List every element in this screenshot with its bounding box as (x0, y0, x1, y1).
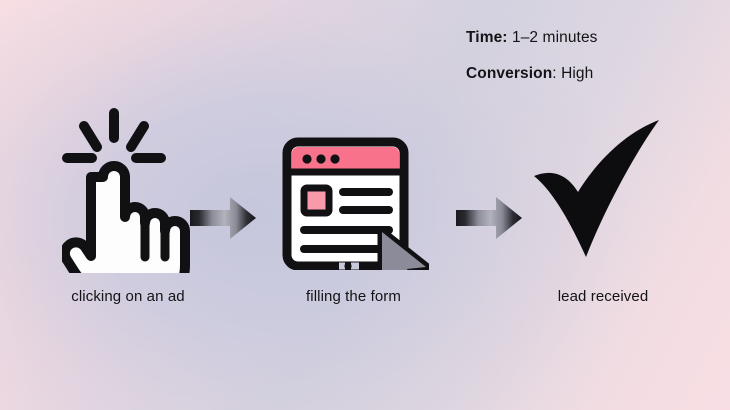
right-arrow-icon (190, 197, 256, 239)
step-clicking-art (18, 105, 238, 275)
step-form-caption: filling the form (256, 288, 451, 305)
step-lead-caption: lead received (508, 288, 698, 305)
checkmark-icon (528, 118, 678, 263)
time-line: Time: 1–2 minutes (466, 30, 716, 46)
infographic-canvas: Time: 1–2 minutes Conversion: High (0, 0, 730, 410)
browser-window-dots (302, 154, 339, 163)
form-thumbnail (304, 188, 329, 213)
step-filling-the-form: filling the form (256, 105, 451, 320)
click-burst-lines (67, 113, 161, 158)
connector-arrow-1 (190, 197, 256, 244)
step-lead-received: lead received (508, 105, 698, 320)
click-hand-shape (65, 166, 185, 273)
browser-bottom-dot (344, 262, 351, 269)
step-lead-art (508, 105, 698, 275)
browser-form-icon (279, 110, 429, 270)
conversion-value: : High (552, 65, 593, 82)
time-value: 1–2 minutes (512, 29, 598, 46)
conversion-line: Conversion: High (466, 66, 716, 82)
meta-info-block: Time: 1–2 minutes Conversion: High (466, 30, 716, 101)
time-label: Time: (466, 29, 508, 46)
click-hand-icon (62, 107, 194, 273)
step-clicking-caption: clicking on an ad (18, 288, 238, 305)
process-flow: clicking on an ad (0, 105, 730, 320)
conversion-label: Conversion (466, 65, 552, 82)
step-form-art (256, 105, 451, 275)
